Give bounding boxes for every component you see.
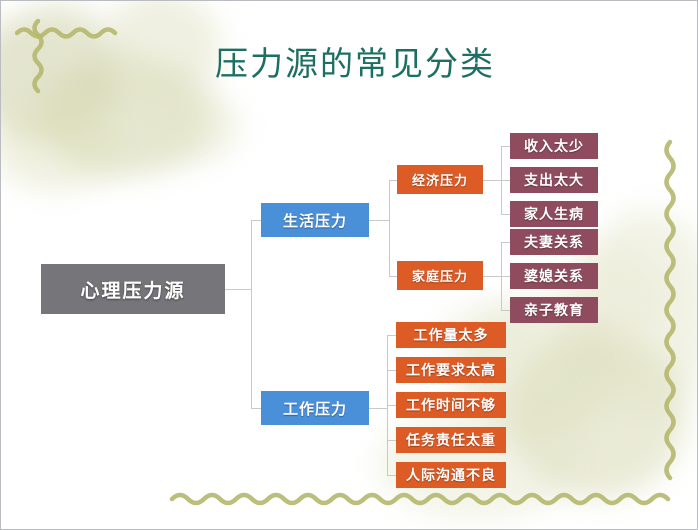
leaf-node-inlaw-relationship[interactable]: 婆媳关系 — [510, 263, 598, 289]
leaf-node-high-job-demands[interactable]: 工作要求太高 — [396, 357, 506, 383]
leaf-node-too-much-workload[interactable]: 工作量太多 — [396, 322, 506, 348]
leaf-node-child-education[interactable]: 亲子教育 — [510, 297, 598, 323]
leaf-node-poor-communication[interactable]: 人际沟通不良 — [396, 462, 506, 488]
node-root[interactable]: 心理压力源 — [41, 264, 225, 314]
connector-economic-stem — [483, 180, 501, 181]
connector-root-stem — [225, 289, 251, 290]
leaf-node-heavy-responsibility[interactable]: 任务责任太重 — [396, 427, 506, 453]
connector-work-stem — [369, 408, 387, 409]
connector-life-stem — [369, 220, 389, 221]
leaf-node-income-too-low[interactable]: 收入太少 — [510, 133, 598, 159]
leaf-node-expense-too-high[interactable]: 支出太大 — [510, 167, 598, 193]
mind-map-diagram: 心理压力源 生活压力 工作压力 经济压力 家庭压力 收入太少 支出太大 家人生病… — [1, 1, 697, 529]
connector-family-stem — [483, 276, 501, 277]
leaf-node-family-illness[interactable]: 家人生病 — [510, 201, 598, 227]
connector-root-spine — [251, 220, 252, 408]
node-work-stress[interactable]: 工作压力 — [261, 391, 369, 425]
node-life-stress[interactable]: 生活压力 — [261, 203, 369, 237]
slide-canvas: 压力源的常见分类 心理压力源 生活压 — [0, 0, 698, 530]
connector-life-spine — [389, 180, 390, 276]
node-family-stress[interactable]: 家庭压力 — [397, 261, 483, 290]
leaf-node-marital-relationship[interactable]: 夫妻关系 — [510, 229, 598, 255]
leaf-node-not-enough-time[interactable]: 工作时间不够 — [396, 392, 506, 418]
node-economic-stress[interactable]: 经济压力 — [397, 165, 483, 194]
